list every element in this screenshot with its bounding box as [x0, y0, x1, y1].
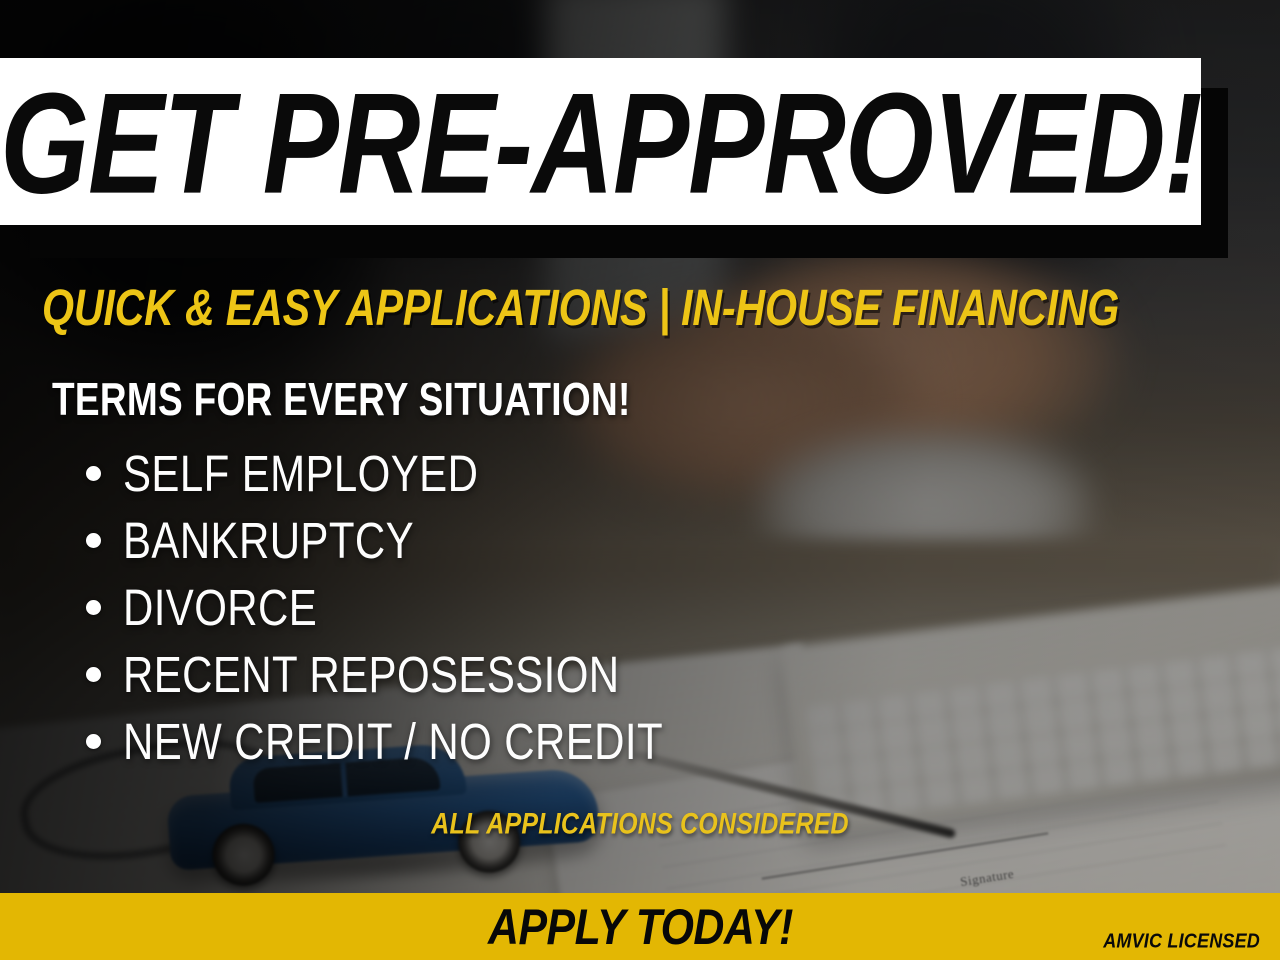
qualification-list: SELF EMPLOYED BANKRUPTCY DIVORCE RECENT … [86, 440, 663, 775]
bullet-dot-icon [86, 533, 101, 548]
list-item-label: SELF EMPLOYED [123, 448, 478, 499]
status-badge: AMVIC LICENSED [1103, 932, 1260, 950]
bullet-dot-icon [86, 734, 101, 749]
apply-today-button[interactable]: APPLY TODAY! [0, 906, 1280, 948]
cta-bar: APPLY TODAY! AMVIC LICENSED [0, 893, 1280, 960]
list-item-label: DIVORCE [123, 582, 317, 633]
list-item: RECENT REPOSESSION [86, 641, 663, 708]
amvic-licensed-label: AMVIC LICENSED [1103, 931, 1260, 951]
headline-white-plate: GET PRE-APPROVED! [0, 58, 1201, 225]
list-item-label: BANKRUPTCY [123, 515, 414, 566]
ad-banner: Signature GET PRE-APPROVED! QUICK & EASY… [0, 0, 1280, 960]
bullet-dot-icon [86, 667, 101, 682]
page-title: GET PRE-APPROVED! [0, 72, 1201, 215]
bullet-dot-icon [86, 600, 101, 615]
list-item: DIVORCE [86, 574, 663, 641]
list-item-label: RECENT REPOSESSION [123, 649, 620, 700]
apply-today-label: APPLY TODAY! [488, 901, 793, 951]
subheadline: QUICK & EASY APPLICATIONS | IN-HOUSE FIN… [42, 283, 1119, 334]
all-applications-note-text: ALL APPLICATIONS CONSIDERED [431, 810, 848, 840]
bullet-dot-icon [86, 466, 101, 481]
list-item: NEW CREDIT / NO CREDIT [86, 708, 663, 775]
list-item-label: NEW CREDIT / NO CREDIT [123, 716, 663, 767]
terms-heading: TERMS FOR EVERY SITUATION! [52, 376, 631, 422]
list-item: BANKRUPTCY [86, 507, 663, 574]
list-item: SELF EMPLOYED [86, 440, 663, 507]
headline-block: GET PRE-APPROVED! [0, 58, 1201, 225]
all-applications-note: ALL APPLICATIONS CONSIDERED [0, 812, 1280, 837]
